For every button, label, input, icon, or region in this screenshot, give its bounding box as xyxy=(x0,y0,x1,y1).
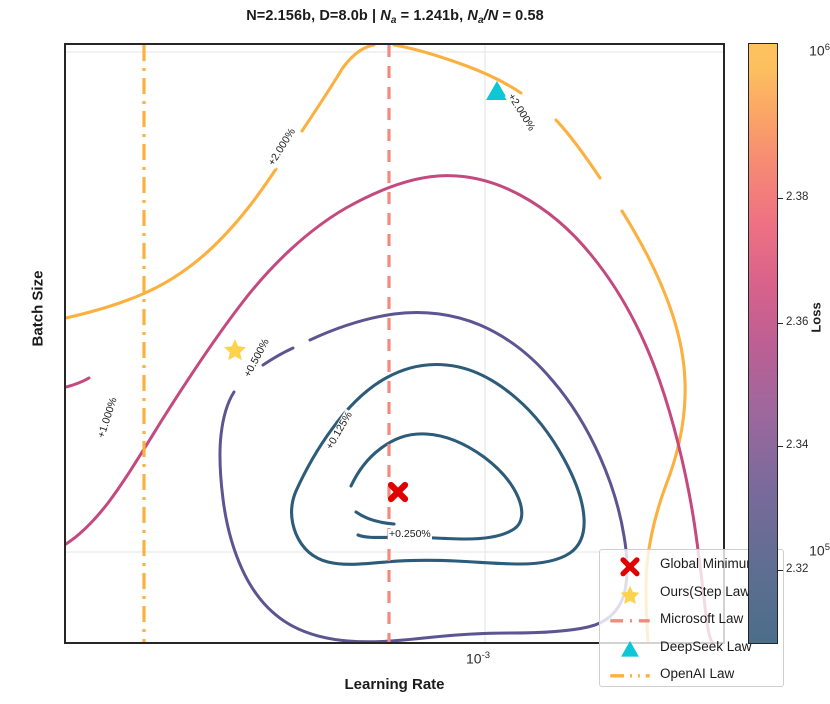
colorbar-tick-mark-234 xyxy=(778,446,783,447)
contour-level-0250 xyxy=(292,365,585,565)
colorbar-tick-232: 2.32 xyxy=(786,563,808,575)
legend-item-openai-law[interactable]: OpenAI Law xyxy=(600,662,785,690)
legend-label-openai-law: OpenAI Law xyxy=(660,666,734,681)
colorbar-label: Loss xyxy=(809,218,824,418)
ours-step-law-marker xyxy=(224,339,246,360)
x-marker-icon xyxy=(606,552,654,580)
colorbar-tick-238: 2.38 xyxy=(786,191,808,203)
global-minimum-marker xyxy=(391,485,405,499)
legend-label-global-minimum: Global Minimum xyxy=(660,556,758,571)
contour-label-0250: +0.250% xyxy=(388,529,432,540)
dashed-line-icon xyxy=(606,607,654,635)
dashdot-line-icon xyxy=(606,662,654,690)
title-na-var: N xyxy=(380,8,391,24)
y-axis-label: Batch Size xyxy=(30,209,47,409)
title-n-var: N xyxy=(488,8,499,24)
plot-area: +2.000% +2.000% +0.500% +1.000% +0.125% … xyxy=(64,43,725,644)
triangle-marker-icon xyxy=(606,635,654,663)
legend-label-deepseek-law: DeepSeek Law xyxy=(660,639,752,654)
title-na2-val: = 0.58 xyxy=(498,8,543,24)
title-na-val: = 1.241b, xyxy=(397,8,468,24)
y-tick-1e6: 106 xyxy=(774,42,830,59)
chart-title: N=2.156b, D=8.0b | Na = 1.241b, Na/N = 0… xyxy=(0,8,790,26)
star-marker-icon xyxy=(606,580,654,608)
chart-root: N=2.156b, D=8.0b | Na = 1.241b, Na/N = 0… xyxy=(0,0,830,704)
colorbar-tick-236: 2.36 xyxy=(786,316,808,328)
contour-level-0500 xyxy=(220,312,627,641)
title-na2-var: N xyxy=(467,8,478,24)
colorbar xyxy=(748,43,778,644)
colorbar-tick-mark-238 xyxy=(778,198,783,199)
colorbar-tick-234: 2.34 xyxy=(786,439,808,451)
colorbar-tick-mark-232 xyxy=(778,570,783,571)
legend-label-microsoft-law: Microsoft Law xyxy=(660,611,743,626)
colorbar-tick-mark-236 xyxy=(778,323,783,324)
contour-level-0125 xyxy=(351,434,522,539)
x-tick-1e-3: 10-3 xyxy=(466,650,490,667)
legend-label-ours-step-law: Ours(Step Law) xyxy=(660,584,755,599)
title-main: N=2.156b, D=8.0b | xyxy=(246,8,380,24)
